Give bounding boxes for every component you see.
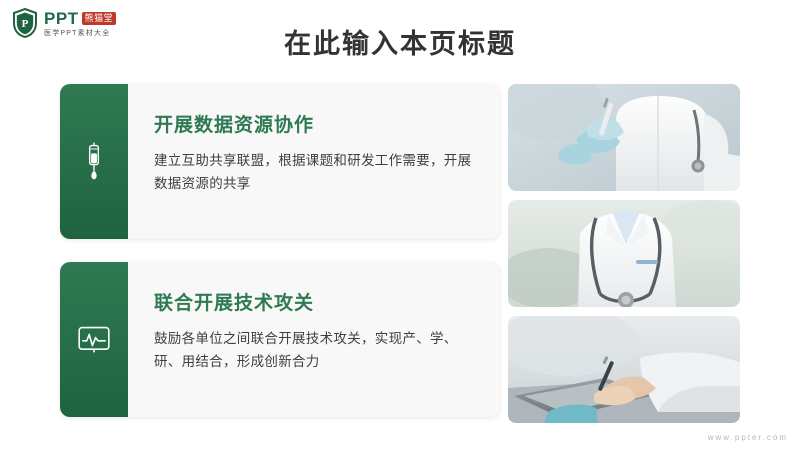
content-card-2: 联合开展技术攻关 鼓励各单位之间联合开展技术攻关，实现产、学、研、用结合，形成创… bbox=[60, 262, 500, 417]
card-2-icon-panel bbox=[60, 262, 128, 417]
card-2-body: 联合开展技术攻关 鼓励各单位之间联合开展技术攻关，实现产、学、研、用结合，形成创… bbox=[128, 262, 500, 417]
heart-monitor-icon bbox=[78, 326, 110, 354]
card-2-description: 鼓励各单位之间联合开展技术攻关，实现产、学、研、用结合，形成创新合力 bbox=[154, 327, 474, 373]
card-1-icon-panel bbox=[60, 84, 128, 239]
photo-nurse-stethoscope bbox=[508, 200, 740, 307]
content-card-1: 开展数据资源协作 建立互助共享联盟，根据课题和研发工作需要，开展数据资源的共享 bbox=[60, 84, 500, 239]
card-1-body: 开展数据资源协作 建立互助共享联盟，根据课题和研发工作需要，开展数据资源的共享 bbox=[128, 84, 500, 239]
page-title: 在此输入本页标题 bbox=[0, 22, 800, 61]
photo-doctor-writing bbox=[508, 316, 740, 423]
photo-nurse-gloves bbox=[508, 84, 740, 191]
card-1-description: 建立互助共享联盟，根据课题和研发工作需要，开展数据资源的共享 bbox=[154, 149, 474, 195]
card-2-heading: 联合开展技术攻关 bbox=[154, 288, 474, 315]
card-1-heading: 开展数据资源协作 bbox=[154, 110, 474, 137]
footer-url: www.ppter.com bbox=[708, 433, 788, 442]
iv-drip-icon bbox=[81, 142, 107, 182]
